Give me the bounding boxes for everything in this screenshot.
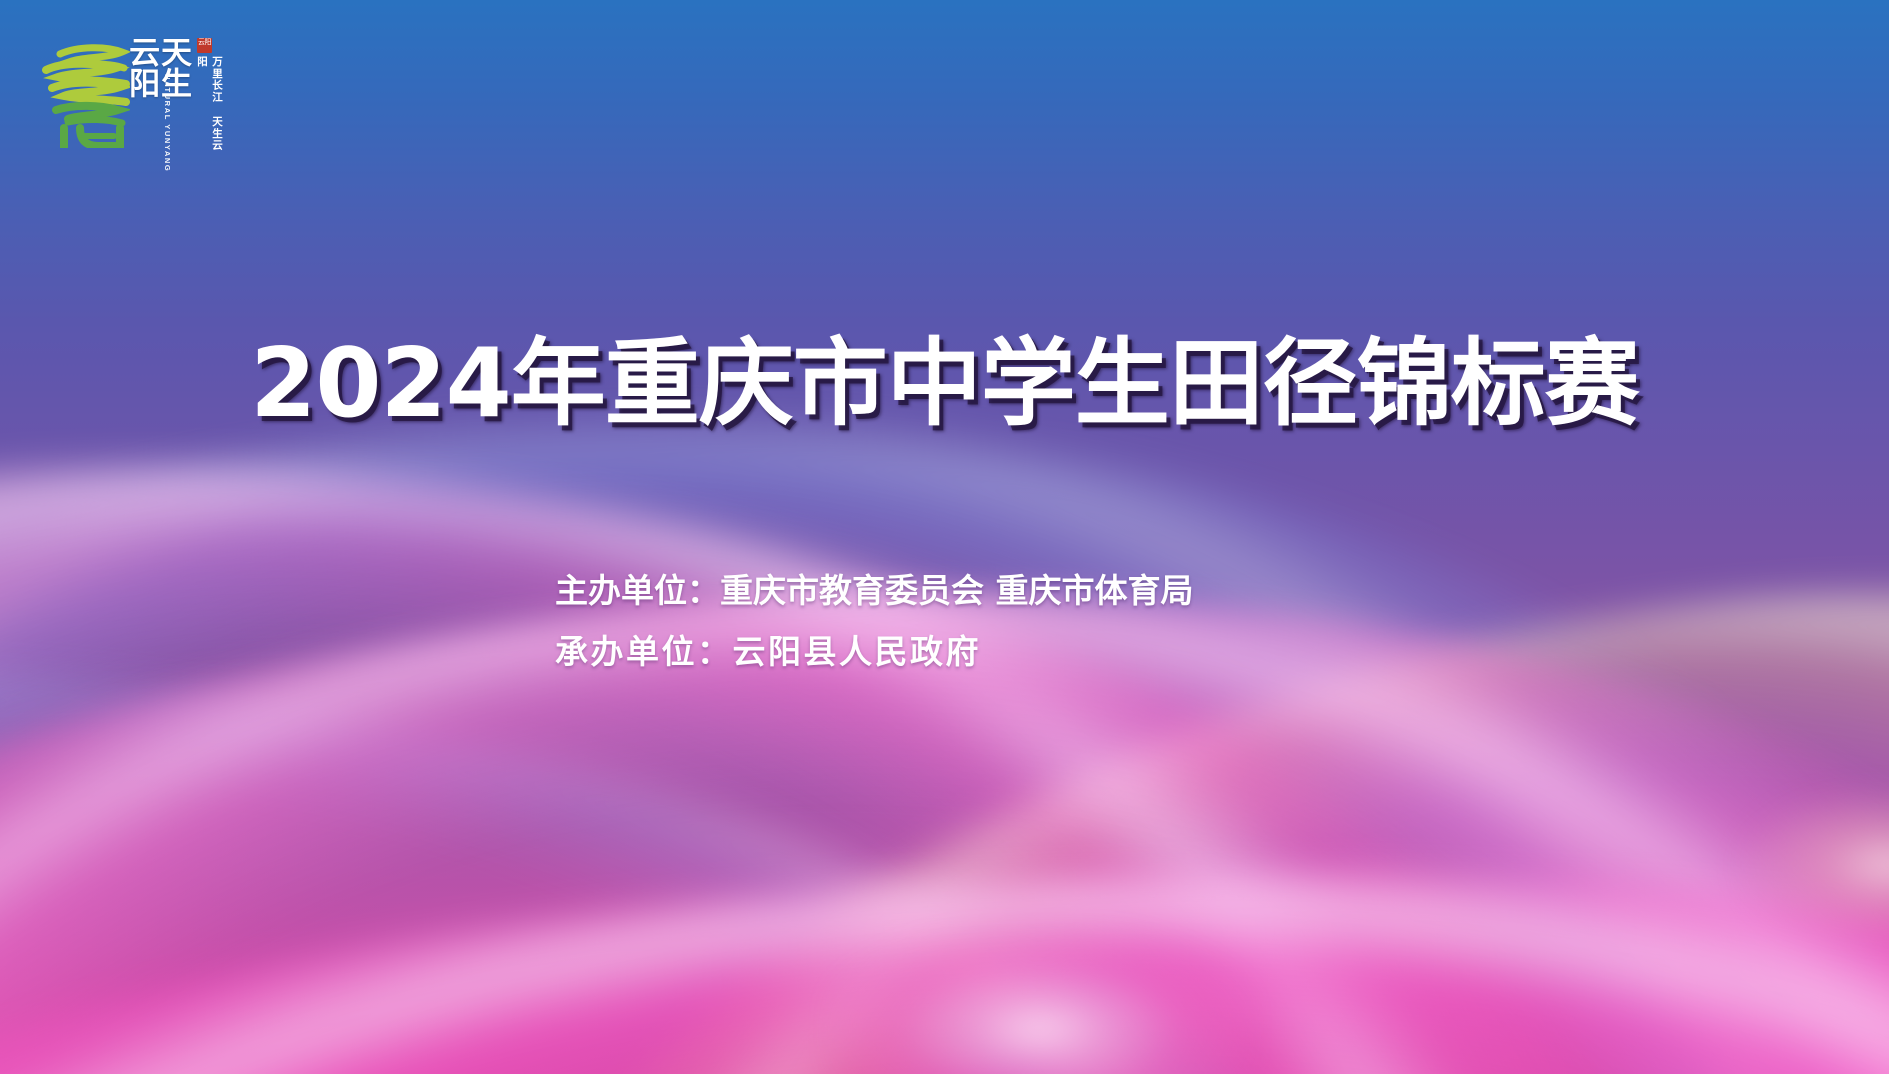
pink-light-ribbon-lower bbox=[0, 807, 1889, 1074]
light-hotspot-right bbox=[1740, 790, 1889, 940]
yunyang-logo: 天生 云阳 云阳 NATURAL YUNYANG 万里长江 天生云阳 bbox=[38, 22, 218, 150]
executive-organization-line: 承办单位：云阳县人民政府 bbox=[555, 621, 1194, 682]
page-title: 2024年重庆市中学生田径锦标赛 bbox=[0, 332, 1889, 436]
logo-seal-text: 云阳 bbox=[197, 38, 212, 46]
host-organization-line: 主办单位：重庆市教育委员会 重庆市体育局 bbox=[555, 560, 1194, 621]
poster-canvas: 天生 云阳 云阳 NATURAL YUNYANG 万里长江 天生云阳 2024年… bbox=[0, 0, 1889, 1074]
logo-brand-en: NATURAL YUNYANG bbox=[163, 74, 172, 152]
blue-light-ribbon bbox=[0, 385, 1889, 1074]
logo-slogan: 万里长江 天生云阳 bbox=[194, 56, 224, 156]
organizer-block: 主办单位：重庆市教育委员会 重庆市体育局 承办单位：云阳县人民政府 bbox=[555, 560, 1194, 682]
pink-light-ribbon-upper bbox=[0, 353, 1658, 1074]
yunyang-cloud-mark-icon bbox=[38, 28, 130, 148]
logo-side-column: 云阳 NATURAL YUNYANG 万里长江 天生云阳 bbox=[188, 38, 220, 156]
bottom-haze bbox=[0, 644, 1889, 1074]
logo-seal-icon: 云阳 bbox=[197, 38, 212, 53]
light-hotspot bbox=[830, 930, 1250, 1074]
background-light-effects bbox=[0, 0, 1889, 1074]
logo-brand-cn: 天生 云阳 bbox=[130, 36, 188, 148]
golden-light-ribbon bbox=[410, 401, 1889, 1074]
